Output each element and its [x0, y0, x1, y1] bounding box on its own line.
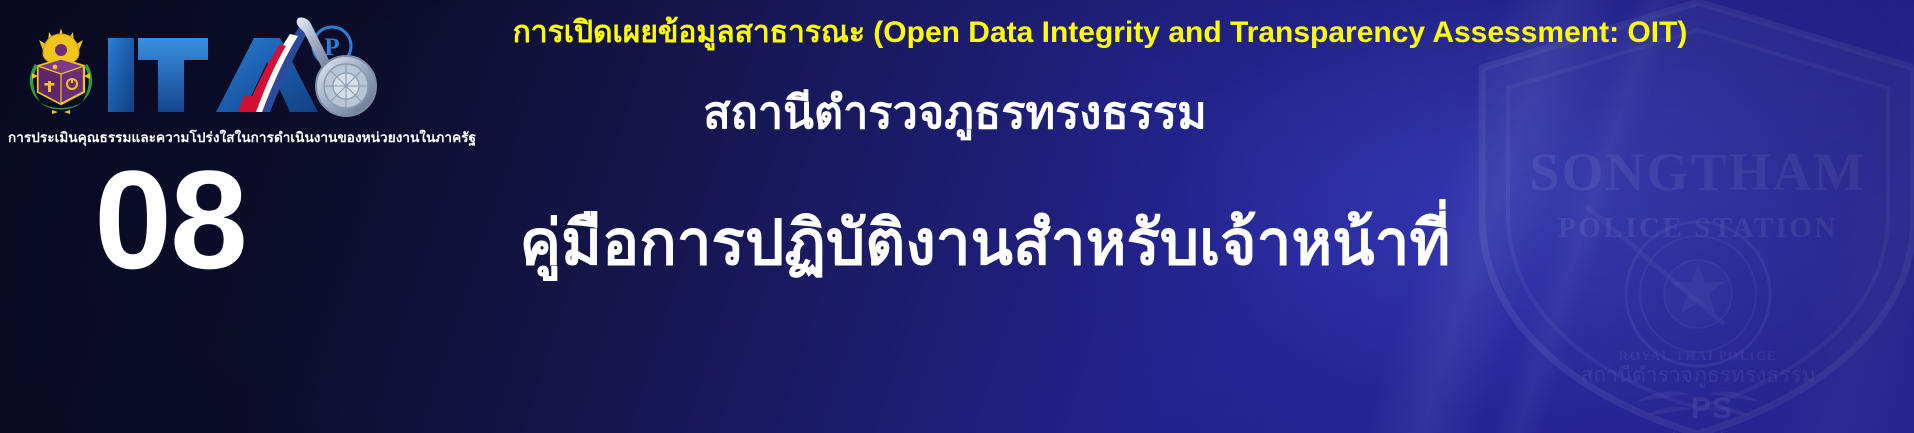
- watermark-shield-title: SONGTHAM: [1529, 142, 1866, 202]
- station-name-text: สถานีตำรวจภูธรทรงธรรม: [360, 86, 1550, 140]
- royal-thai-police-seal: ROYAL THAI POLICE: [1619, 222, 1777, 366]
- watermark-seal-text: ROYAL THAI POLICE: [1619, 348, 1777, 363]
- garuda-emblem-icon: [22, 26, 100, 122]
- main-title-text: คู่มือการปฏิบัติงานสำหรับเจ้าหน้าที่: [330, 205, 1640, 283]
- oit-banner: SONGTHAM POLICE STATION ROYAL THAI POLIC…: [0, 0, 1914, 433]
- ita-logo-block: P: [8, 8, 400, 140]
- oit-header-text: การเปิดเผยข้อมูลสาธารณะ (Open Data Integ…: [360, 16, 1840, 51]
- item-number: 08: [30, 150, 310, 290]
- sheen-streak-3: [1735, 0, 1914, 433]
- laurel-wreath-icon: [1636, 391, 1760, 416]
- watermark-thai-station-name: สถานีตำรวจภูธรทรงธรรม: [1580, 364, 1815, 388]
- watermark-abbreviation: PS: [1691, 392, 1733, 425]
